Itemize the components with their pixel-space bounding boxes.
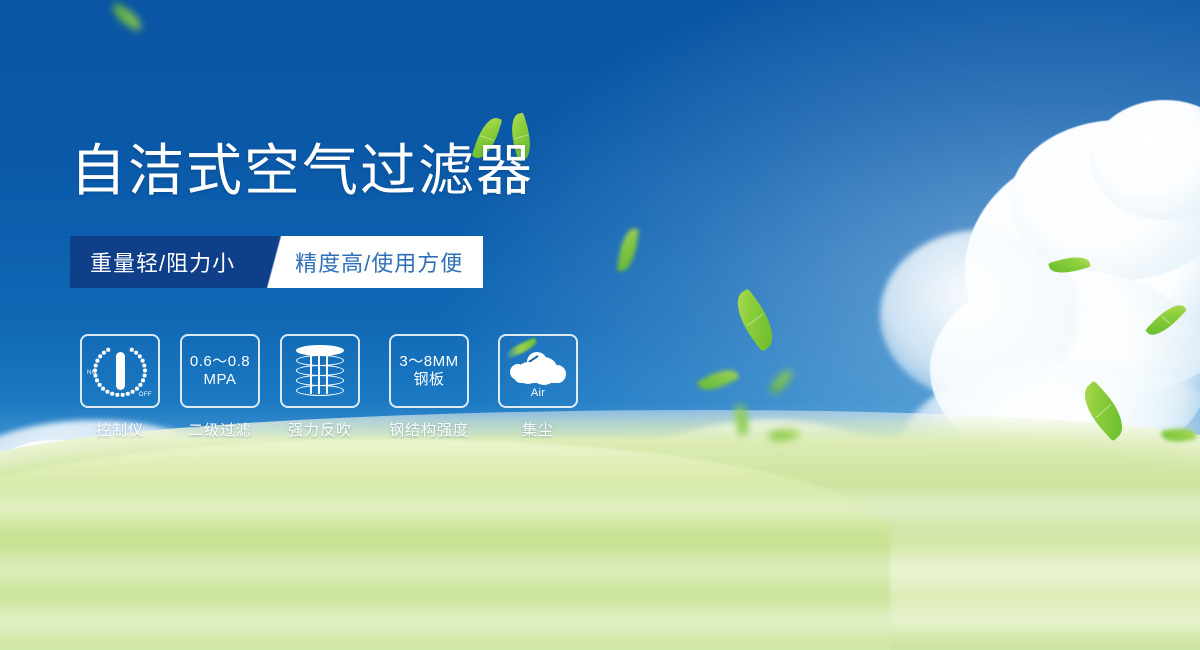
gauge-tick-dot bbox=[141, 379, 144, 382]
feature-item-pressure[interactable]: 0.6～0.8 MPA 二级过滤 bbox=[170, 334, 270, 440]
gauge-tick-dot bbox=[107, 348, 110, 351]
pressure-line-1: 0.6～0.8 bbox=[190, 353, 250, 371]
gauge-tick-dot bbox=[141, 359, 144, 362]
steel-line-2: 钢板 bbox=[399, 371, 458, 389]
feature-label-blowback: 强力反吹 bbox=[288, 419, 352, 440]
gauge-tick-dot bbox=[143, 364, 146, 367]
icon-box-blowback bbox=[280, 334, 360, 408]
steel-plate-text-icon: 3～8MM 钢板 bbox=[399, 353, 458, 388]
tag-secondary: 精度高/使用方便 bbox=[287, 236, 483, 288]
feature-label-pressure: 二级过滤 bbox=[188, 419, 252, 440]
coil-filter-icon bbox=[296, 345, 344, 397]
gauge-tick-dot bbox=[94, 364, 97, 367]
icon-box-pressure: 0.6～0.8 MPA bbox=[180, 334, 260, 408]
gauge-tick-dot bbox=[126, 392, 129, 395]
tag-wedge-divider bbox=[261, 236, 287, 288]
gauge-tick-dot bbox=[121, 393, 124, 396]
cloud-air-icon: Air bbox=[508, 344, 568, 398]
product-banner: 自洁式空气过滤器 重量轻/阻力小 精度高/使用方便 NO OFF 控制仪 0.6… bbox=[0, 0, 1200, 650]
feature-label-controller: 控制仪 bbox=[96, 419, 144, 440]
grass-hill bbox=[0, 440, 890, 650]
tag-primary: 重量轻/阻力小 bbox=[70, 236, 261, 288]
gauge-tick-dot bbox=[99, 355, 102, 358]
gauge-tick-dot bbox=[110, 392, 113, 395]
pressure-text-icon: 0.6～0.8 MPA bbox=[190, 353, 250, 388]
grass-field bbox=[0, 410, 1200, 650]
icon-box-steel: 3～8MM 钢板 bbox=[389, 334, 469, 408]
gauge-label-off: OFF bbox=[139, 392, 152, 398]
feature-item-blowback[interactable]: 强力反吹 bbox=[270, 334, 370, 440]
gauge-tick-dot bbox=[95, 379, 98, 382]
feature-label-dust: 集尘 bbox=[522, 419, 554, 440]
coil-ring bbox=[296, 385, 344, 396]
tagline-bar: 重量轻/阻力小 精度高/使用方便 bbox=[70, 236, 483, 288]
icon-box-dust: Air bbox=[498, 334, 578, 408]
gauge-tick-dot bbox=[96, 359, 99, 362]
gauge-tick-dot bbox=[102, 351, 105, 354]
gauge-label-no: NO bbox=[87, 370, 97, 376]
gauge-tick-dot bbox=[134, 351, 137, 354]
steel-line-1: 3～8MM bbox=[399, 353, 458, 371]
gauge-tick-dot bbox=[106, 390, 109, 393]
gauge-tick-dot bbox=[98, 383, 101, 386]
gauge-tick-dot bbox=[101, 387, 104, 390]
pressure-line-2: MPA bbox=[190, 371, 250, 389]
feature-item-steel[interactable]: 3～8MM 钢板 钢结构强度 bbox=[370, 334, 488, 440]
feature-item-dust[interactable]: Air 集尘 bbox=[488, 334, 588, 440]
cloud-base bbox=[514, 370, 565, 383]
icon-box-controller: NO OFF bbox=[80, 334, 160, 408]
gauge-needle bbox=[116, 352, 125, 390]
feature-label-steel: 钢结构强度 bbox=[389, 419, 469, 440]
feature-item-controller[interactable]: NO OFF 控制仪 bbox=[70, 334, 170, 440]
gauge-tick-dot bbox=[143, 374, 146, 377]
gauge-tick-dot bbox=[131, 390, 134, 393]
gauge-tick-dot bbox=[138, 355, 141, 358]
page-title: 自洁式空气过滤器 bbox=[70, 143, 534, 199]
gauge-icon: NO OFF bbox=[89, 342, 151, 400]
gauge-tick-dot bbox=[130, 348, 133, 351]
air-label: Air bbox=[508, 387, 568, 399]
gauge-tick-dot bbox=[139, 383, 142, 386]
gauge-tick-dot bbox=[135, 387, 138, 390]
feature-list: NO OFF 控制仪 0.6～0.8 MPA 二级过滤 bbox=[70, 334, 588, 440]
gauge-tick-dot bbox=[143, 369, 146, 372]
gauge-tick-dot bbox=[116, 393, 119, 396]
